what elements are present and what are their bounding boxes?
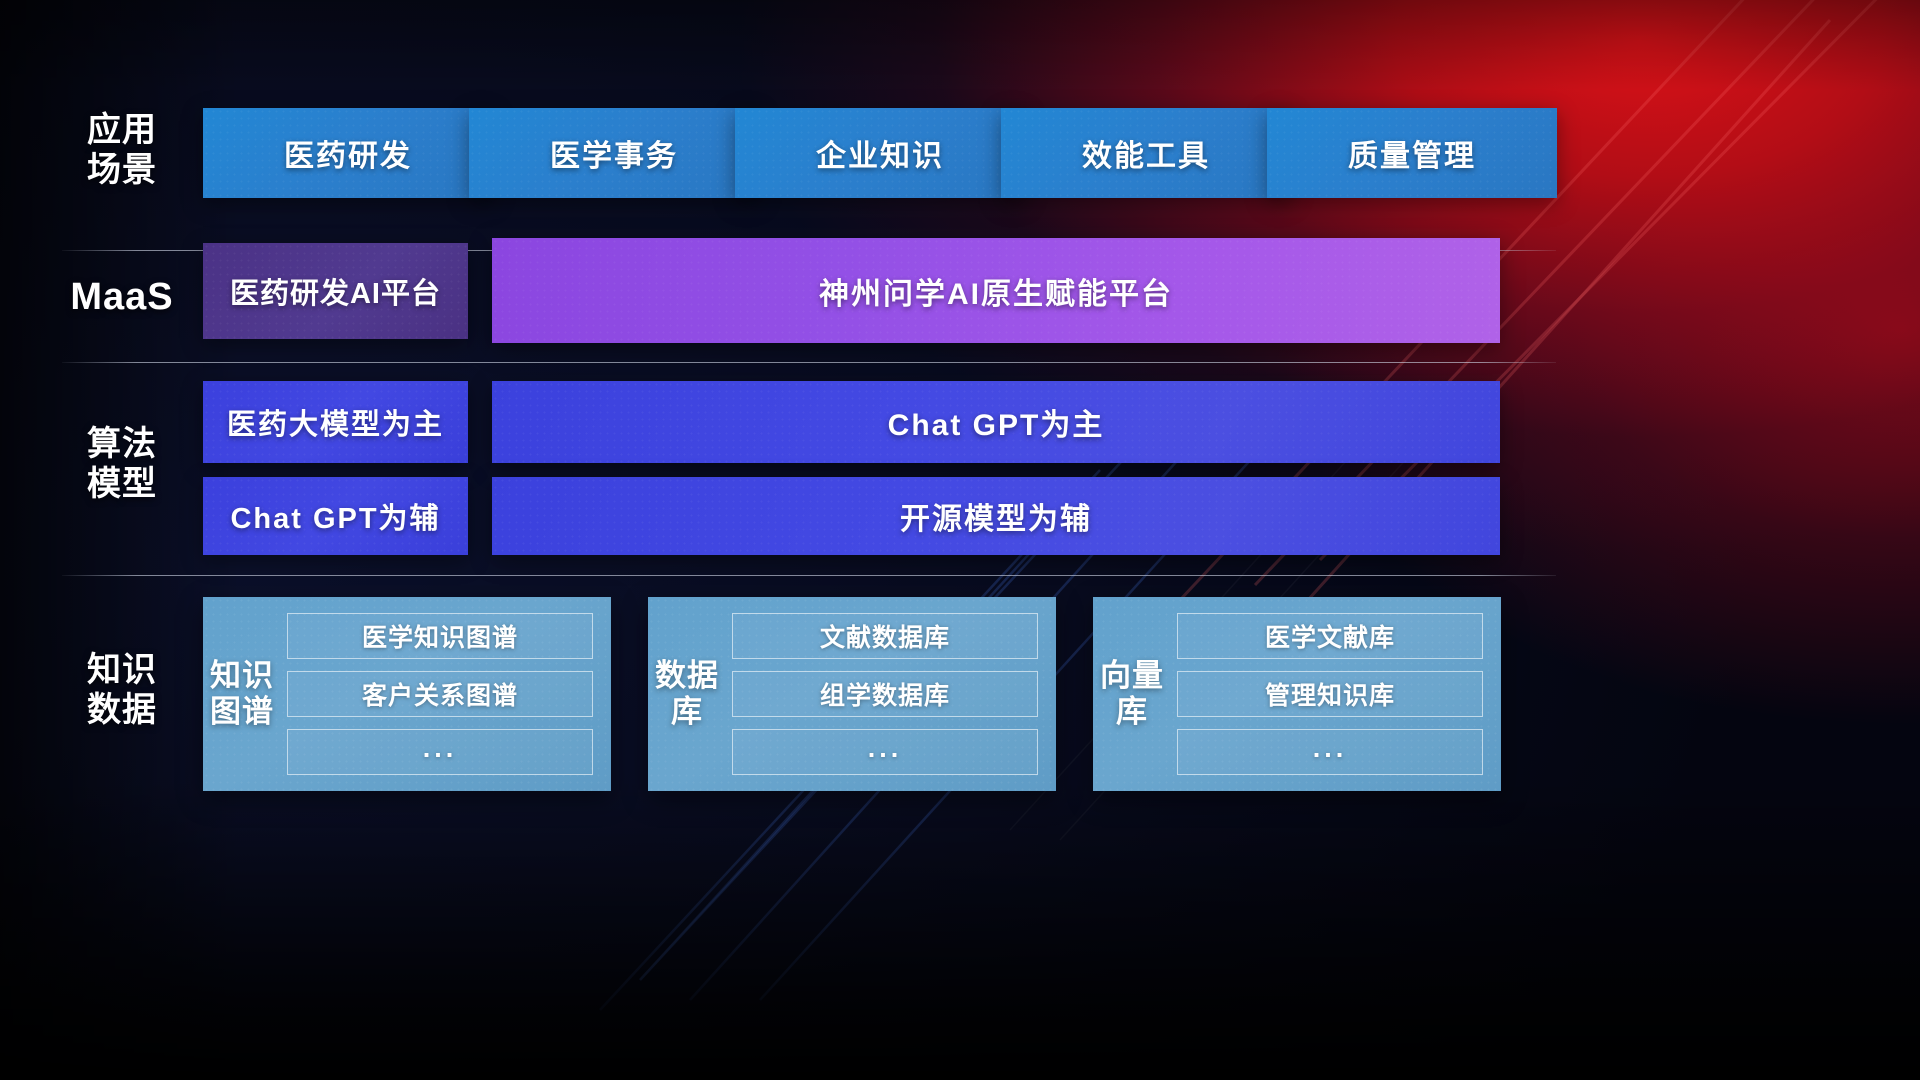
knowledge-item-management-knowledge-store[interactable]: 管理知识库 [1177, 671, 1483, 717]
maas-box-shenzhou-wenxue-platform[interactable]: 神州问学AI原生赋能平台 [492, 238, 1500, 343]
app-box-medical-affairs[interactable]: 医学事务 [469, 108, 759, 198]
row-label-application: 应用 场景 [62, 110, 182, 190]
app-box-efficiency-tools[interactable]: 效能工具 [1001, 108, 1291, 198]
maas-box-pharma-ai-platform[interactable]: 医药研发AI平台 [203, 243, 468, 339]
knowledge-item-database-more[interactable]: ... [732, 729, 1038, 775]
knowledge-group-vector-store-items: 医学文献库 管理知识库 ... [1171, 599, 1501, 789]
row-label-application-line2: 场景 [62, 150, 182, 190]
knowledge-item-medical-literature-store[interactable]: 医学文献库 [1177, 613, 1483, 659]
knowledge-group-database[interactable]: 数据库 文献数据库 组学数据库 ... [648, 597, 1056, 791]
knowledge-group-vector-store-label: 向量库 [1093, 658, 1171, 730]
app-box-efficiency-tools-label: 效能工具 [1082, 131, 1210, 175]
knowledge-group-graph-label: 知识图谱 [203, 658, 281, 730]
algo-box-chatgpt-secondary-label: Chat GPT为辅 [230, 495, 440, 537]
knowledge-group-vector-store[interactable]: 向量库 医学文献库 管理知识库 ... [1093, 597, 1501, 791]
diagram-canvas: 应用 场景 医药研发 医学事务 企业知识 效能工具 质量管理 MaaS 医药研发… [0, 0, 1920, 1080]
knowledge-group-database-items: 文献数据库 组学数据库 ... [726, 599, 1056, 789]
algo-box-chatgpt-primary[interactable]: Chat GPT为主 [492, 381, 1500, 463]
divider-maas-algorithm [62, 362, 1556, 363]
app-box-enterprise-knowledge-label: 企业知识 [816, 131, 944, 175]
app-box-medicine-rd[interactable]: 医药研发 [203, 108, 493, 198]
row-label-knowledge-line1: 知识 [62, 650, 182, 690]
row-label-maas-text: MaaS [62, 275, 182, 320]
divider-algorithm-knowledge [62, 575, 1556, 576]
app-box-quality-management-label: 质量管理 [1348, 131, 1476, 175]
bottom-vignette [0, 780, 1920, 1080]
row-label-algorithm-line2: 模型 [62, 464, 182, 504]
row-label-algorithm-line1: 算法 [62, 424, 182, 464]
app-box-quality-management[interactable]: 质量管理 [1267, 108, 1557, 198]
knowledge-item-customer-graph[interactable]: 客户关系图谱 [287, 671, 593, 717]
row-label-knowledge-line2: 数据 [62, 690, 182, 730]
app-box-medical-affairs-label: 医学事务 [550, 131, 678, 175]
top-vignette [0, 0, 1920, 90]
knowledge-item-vector-store-more[interactable]: ... [1177, 729, 1483, 775]
row-label-application-line1: 应用 [62, 110, 182, 150]
row-label-algorithm: 算法 模型 [62, 424, 182, 504]
app-box-enterprise-knowledge[interactable]: 企业知识 [735, 108, 1025, 198]
algo-box-pharma-llm-primary[interactable]: 医药大模型为主 [203, 381, 468, 463]
algo-box-open-source-secondary[interactable]: 开源模型为辅 [492, 477, 1500, 555]
knowledge-group-graph[interactable]: 知识图谱 医学知识图谱 客户关系图谱 ... [203, 597, 611, 791]
knowledge-item-graph-more[interactable]: ... [287, 729, 593, 775]
maas-box-pharma-ai-platform-label: 医药研发AI平台 [230, 270, 441, 312]
knowledge-item-omics-db[interactable]: 组学数据库 [732, 671, 1038, 717]
app-box-medicine-rd-label: 医药研发 [284, 131, 412, 175]
maas-box-shenzhou-wenxue-platform-label: 神州问学AI原生赋能平台 [819, 269, 1173, 313]
knowledge-item-literature-db[interactable]: 文献数据库 [732, 613, 1038, 659]
knowledge-item-medical-graph[interactable]: 医学知识图谱 [287, 613, 593, 659]
knowledge-group-database-label: 数据库 [648, 658, 726, 730]
knowledge-group-graph-items: 医学知识图谱 客户关系图谱 ... [281, 599, 611, 789]
algo-box-open-source-secondary-label: 开源模型为辅 [900, 494, 1092, 538]
algo-box-chatgpt-secondary[interactable]: Chat GPT为辅 [203, 477, 468, 555]
row-label-maas: MaaS [62, 275, 182, 320]
row-label-knowledge: 知识 数据 [62, 650, 182, 730]
algo-box-chatgpt-primary-label: Chat GPT为主 [888, 400, 1105, 444]
algo-box-pharma-llm-primary-label: 医药大模型为主 [227, 401, 444, 443]
